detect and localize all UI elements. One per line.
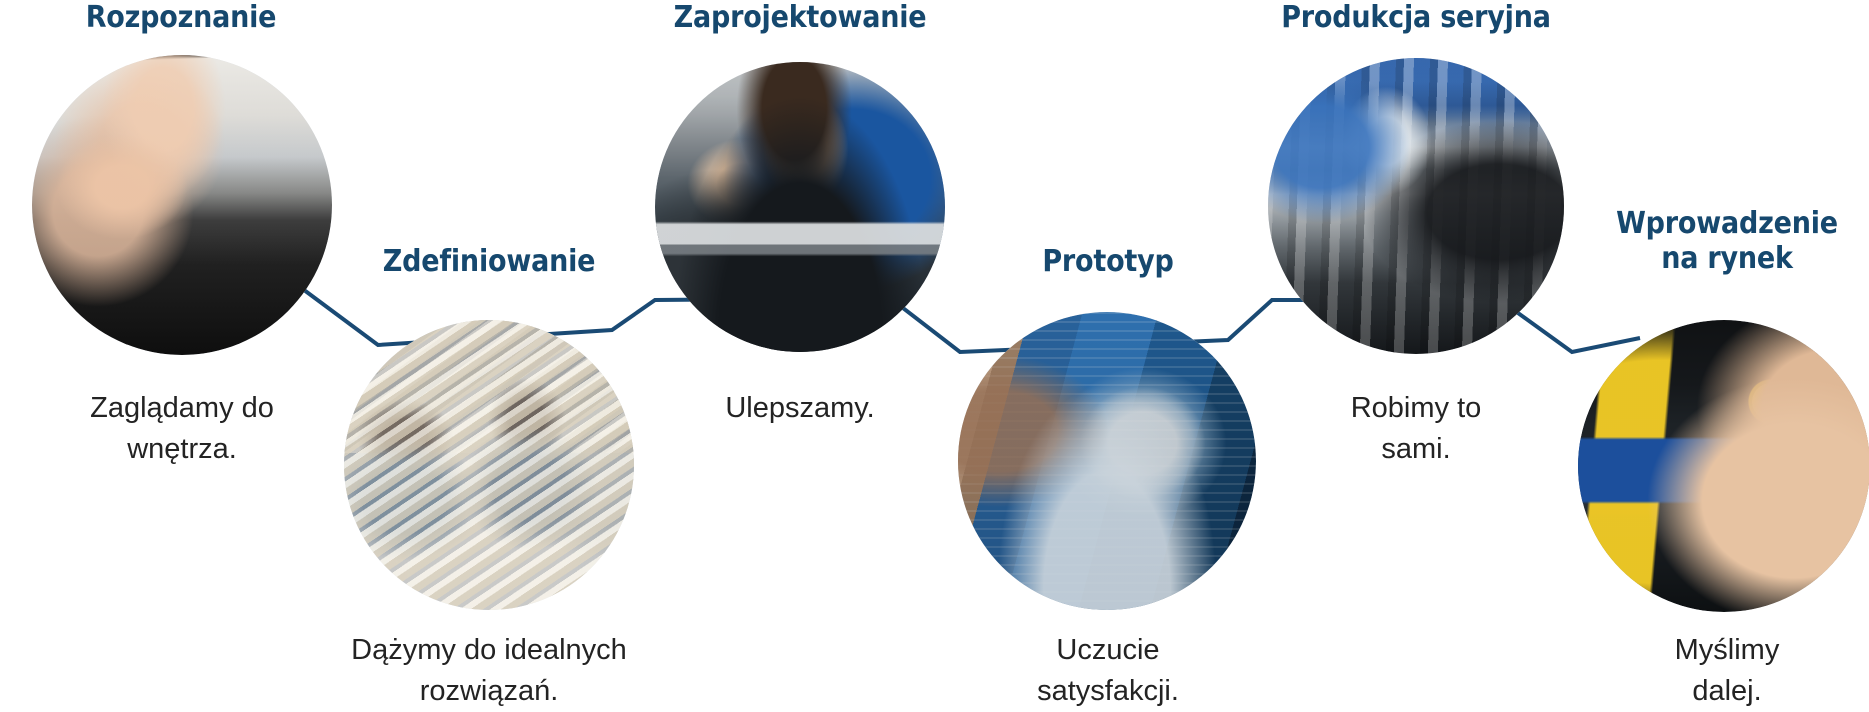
step-image-rozpoznanie xyxy=(32,55,332,355)
photo-product-labeling xyxy=(1578,320,1869,612)
photo-technician-laptop xyxy=(655,62,945,352)
step-title-zaprojektowanie: Zaprojektowanie xyxy=(570,0,1030,35)
process-infographic: Rozpoznanie Zaglądamy do wnętrza. Zdefin… xyxy=(0,0,1869,705)
step-image-wprowadzenie-na-rynek xyxy=(1578,320,1869,612)
step-title-zdefiniowanie: Zdefiniowanie xyxy=(279,244,699,279)
step-title-wprowadzenie-na-rynek: Wprowadzenie na rynek xyxy=(1517,206,1869,277)
step-image-zdefiniowanie xyxy=(344,320,634,610)
step-caption-produkcja-seryjna: Robimy to sami. xyxy=(1206,388,1626,470)
step-caption-prototyp: Uczucie satysfakcji. xyxy=(878,630,1338,712)
step-title-produkcja-seryjna: Produkcja seryjna xyxy=(1176,0,1656,35)
step-caption-zaprojektowanie: Ulepszamy. xyxy=(590,388,1010,429)
photo-team-meeting xyxy=(344,320,634,610)
step-title-rozpoznanie: Rozpoznanie xyxy=(0,0,391,35)
step-caption-rozpoznanie: Zaglądamy do wnętrza. xyxy=(0,388,392,470)
photo-mechanic-inspecting xyxy=(32,55,332,355)
step-caption-zdefiniowanie: Dążymy do idealnych rozwiązań. xyxy=(229,630,749,712)
step-caption-wprowadzenie-na-rynek: Myślimy dalej. xyxy=(1517,630,1869,712)
step-image-zaprojektowanie xyxy=(655,62,945,352)
step-title-prototyp: Prototyp xyxy=(898,244,1318,279)
